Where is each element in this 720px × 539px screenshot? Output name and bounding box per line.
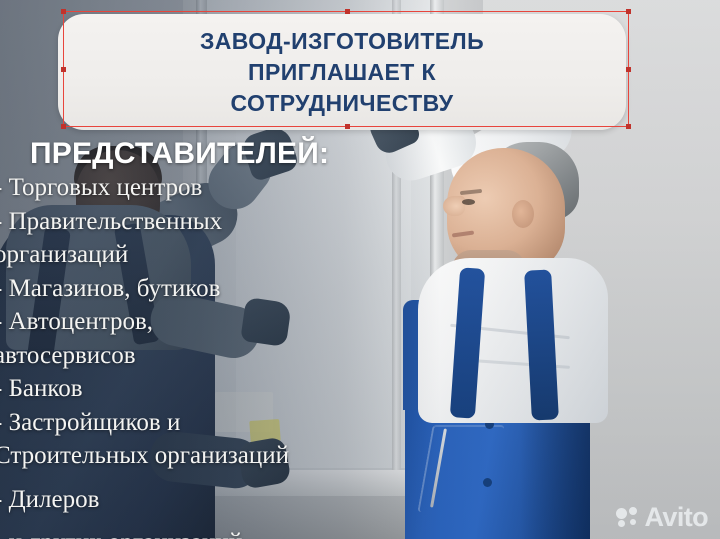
headline-line-3: СОТРУДНИЧЕСТВУ xyxy=(231,88,454,119)
list-item: - Правительственных xyxy=(0,205,414,239)
headline-line-2: ПРИГЛАШАЕТ К xyxy=(248,57,436,88)
avito-logo-icon xyxy=(616,507,640,529)
avito-wordmark: Avito xyxy=(645,504,709,531)
headline-banner: ЗАВОД-ИЗГОТОВИТЕЛЬ ПРИГЛАШАЕТ К СОТРУДНИ… xyxy=(58,14,626,130)
representatives-list: - Торговых центров - Правительственных о… xyxy=(0,171,414,539)
avito-watermark: Avito xyxy=(616,504,709,531)
list-item: - Банков xyxy=(0,372,414,406)
list-item: - Застройщиков и xyxy=(0,406,414,440)
headline-line-1: ЗАВОД-ИЗГОТОВИТЕЛЬ xyxy=(200,26,484,57)
list-item: - Дилеров xyxy=(0,483,414,517)
list-item: - Торговых центров xyxy=(0,171,414,205)
list-item: Строительных организаций xyxy=(0,439,414,473)
list-item: автосервисов xyxy=(0,339,414,373)
list-heading: ПРЕДСТАВИТЕЛЕЙ: xyxy=(30,137,329,171)
list-item: организаций xyxy=(0,238,414,272)
list-item: - и других организаций xyxy=(0,526,414,539)
list-item: - Магазинов, бутиков xyxy=(0,272,414,306)
listing-image: ЗАВОД-ИЗГОТОВИТЕЛЬ ПРИГЛАШАЕТ К СОТРУДНИ… xyxy=(0,0,720,539)
list-item: - Автоцентров, xyxy=(0,305,414,339)
